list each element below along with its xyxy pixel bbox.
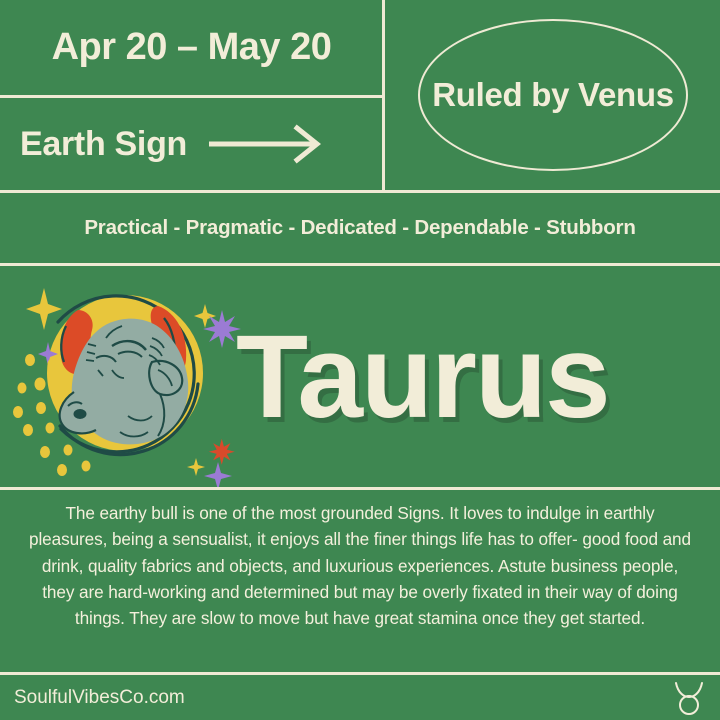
sign-title: Taurus [236, 266, 720, 487]
element-sign-text: Earth Sign [20, 125, 187, 164]
traits-text: Practical - Pragmatic - Dedicated - Depe… [84, 216, 635, 240]
taurus-zodiac-card: Apr 20 – May 20 Earth Sign Ruled by Venu… [0, 0, 720, 720]
description-section: The earthy bull is one of the most groun… [0, 490, 720, 672]
ruler-badge-cell: Ruled by Venus [386, 0, 720, 190]
date-range-cell: Apr 20 – May 20 [0, 0, 383, 95]
ruler-oval: Ruled by Venus [418, 19, 688, 171]
taurus-zodiac-glyph-icon [672, 680, 706, 716]
traits-bar: Practical - Pragmatic - Dedicated - Depe… [0, 193, 720, 263]
arrow-right-icon [207, 124, 327, 164]
element-sign-cell: Earth Sign [0, 98, 383, 190]
description-text: The earthy bull is one of the most groun… [28, 500, 692, 632]
hero-section: Taurus [0, 266, 720, 487]
date-range-text: Apr 20 – May 20 [52, 26, 332, 69]
ruler-badge-text: Ruled by Venus [432, 78, 674, 113]
footer: SoulfulVibesCo.com [0, 675, 720, 720]
sign-title-text: Taurus [236, 318, 609, 436]
taurus-bull-illustration [0, 266, 250, 487]
site-url[interactable]: SoulfulVibesCo.com [14, 687, 185, 709]
